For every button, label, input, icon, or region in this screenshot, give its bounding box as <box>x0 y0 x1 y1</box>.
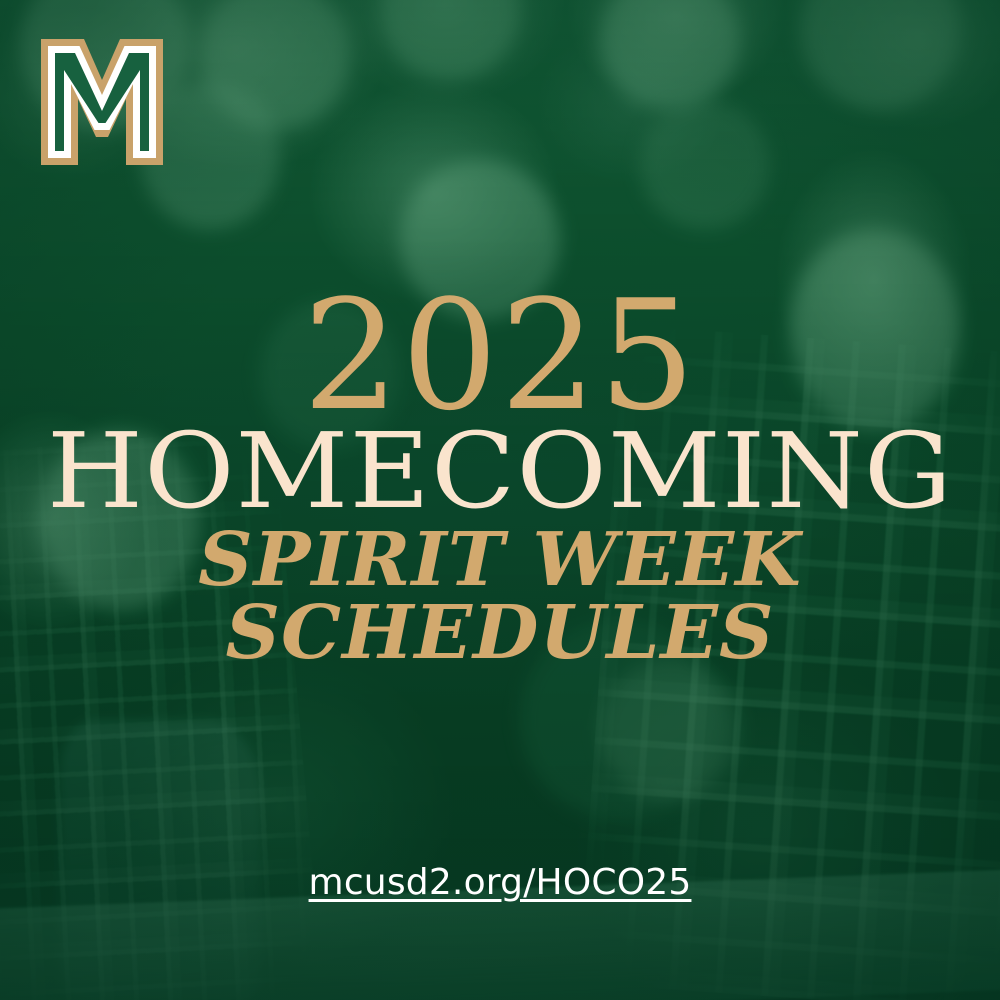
title-block: 2025 HOMECOMING SPIRIT WEEK SCHEDULES <box>0 286 1000 669</box>
subline-schedules: SCHEDULES <box>0 598 1000 669</box>
url-block: mcusd2.org/HOCO25 <box>0 862 1000 903</box>
school-m-logo <box>38 36 166 168</box>
website-url-link[interactable]: mcusd2.org/HOCO25 <box>309 862 692 903</box>
headline-text: HOMECOMING <box>0 426 1000 518</box>
subline-spirit-week: SPIRIT WEEK <box>0 525 1000 596</box>
year-text: 2025 <box>0 286 1000 426</box>
homecoming-poster: 2025 HOMECOMING SPIRIT WEEK SCHEDULES mc… <box>0 0 1000 1000</box>
